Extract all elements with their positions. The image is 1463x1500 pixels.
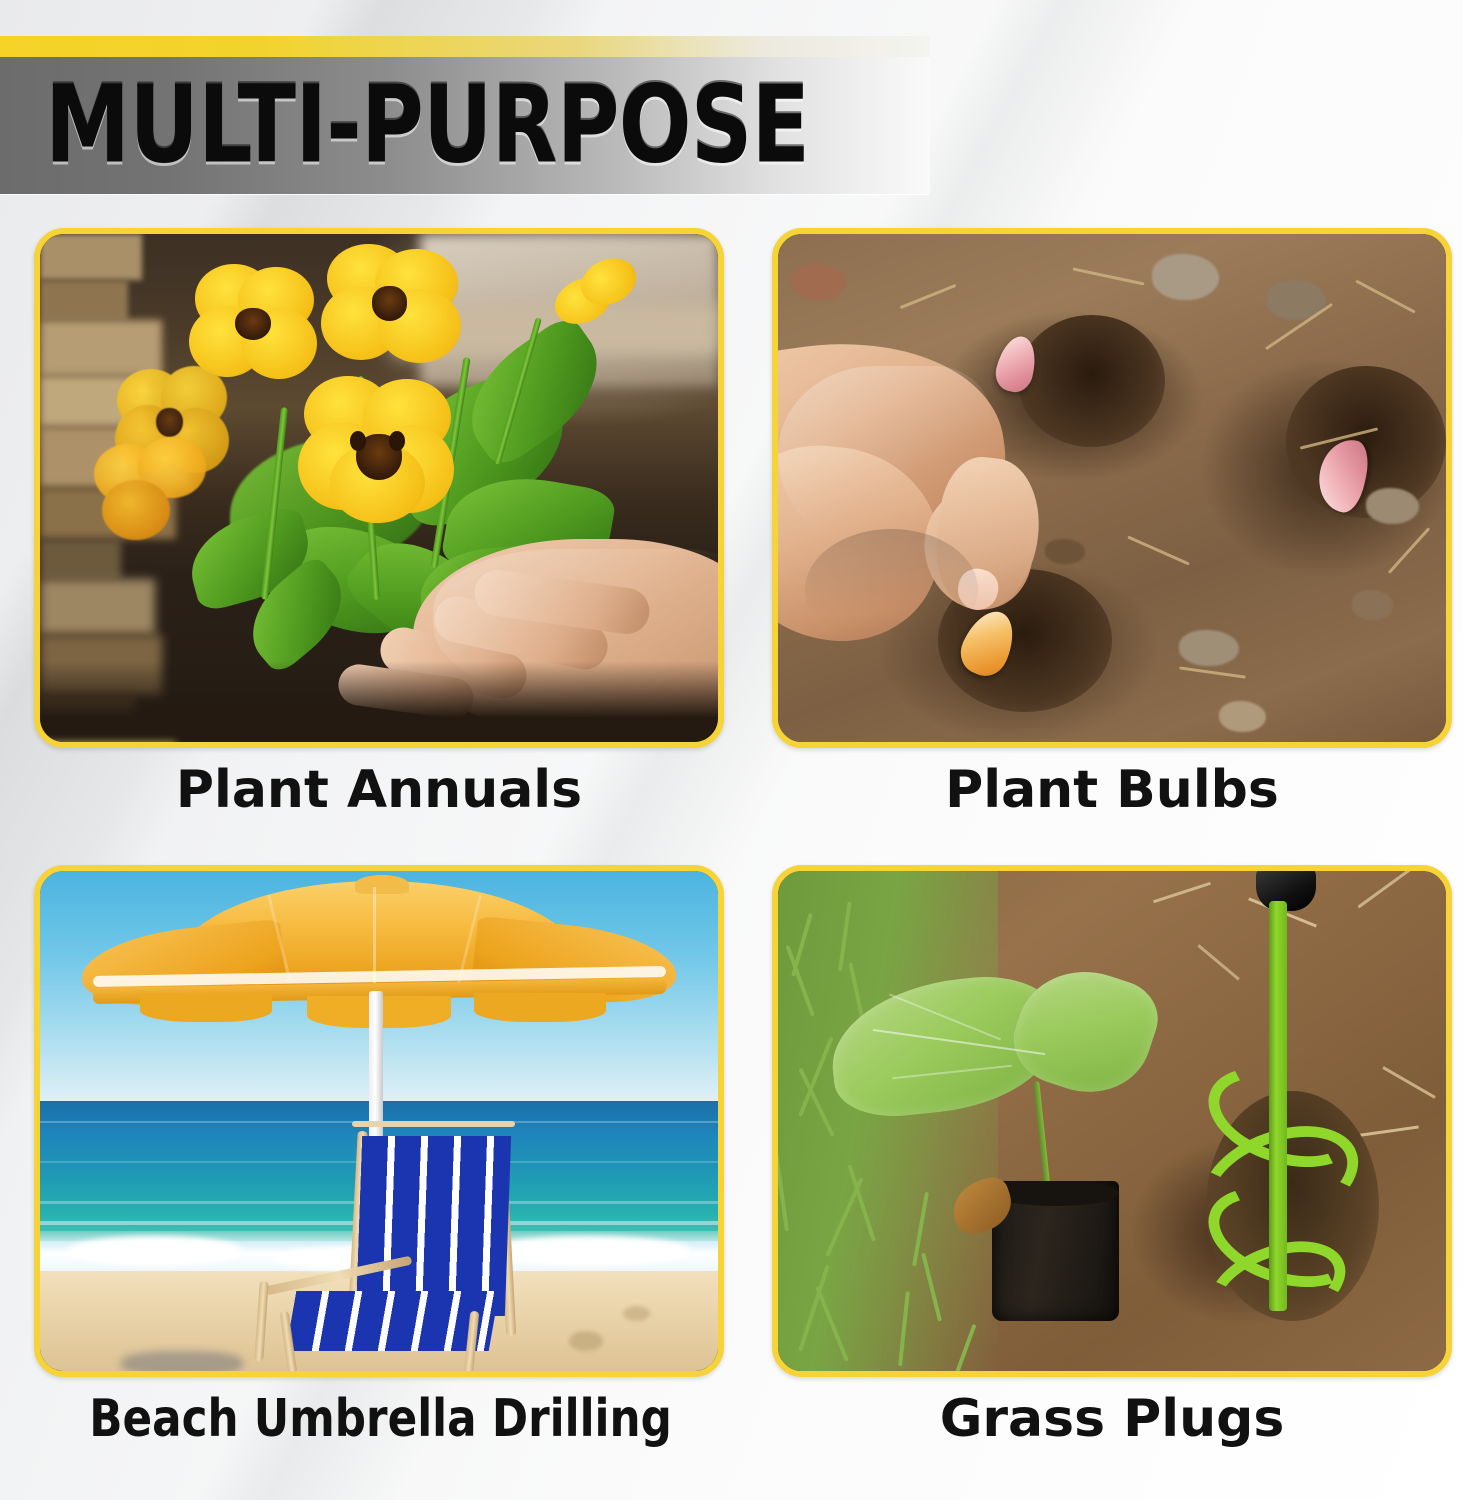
infographic-page: MULTI-PURPOSE [0, 0, 1463, 1500]
header-band: MULTI-PURPOSE [0, 57, 930, 194]
grass-area [778, 871, 998, 1371]
header-banner: MULTI-PURPOSE [0, 36, 930, 194]
card-caption: Beach Umbrella Drilling [89, 1391, 669, 1448]
photo-plant-bulbs [772, 228, 1452, 748]
photo-grass-plugs [772, 865, 1452, 1377]
header-accent-bar [0, 36, 930, 57]
page-title: MULTI-PURPOSE [45, 72, 809, 179]
chair-back [356, 1136, 511, 1316]
card-caption: Plant Bulbs [772, 762, 1452, 819]
photo-plant-annuals [34, 228, 724, 748]
feature-card-beach-umbrella-drilling[interactable]: Beach Umbrella Drilling [34, 865, 724, 1500]
feature-card-plant-bulbs[interactable]: Plant Bulbs [772, 228, 1452, 873]
card-caption: Plant Annuals [34, 762, 724, 819]
feature-card-plant-annuals[interactable]: Plant Annuals [34, 228, 724, 873]
photo-beach-umbrella [34, 865, 724, 1377]
card-caption: Grass Plugs [772, 1391, 1452, 1448]
feature-card-grass-plugs[interactable]: Grass Plugs [772, 865, 1452, 1500]
